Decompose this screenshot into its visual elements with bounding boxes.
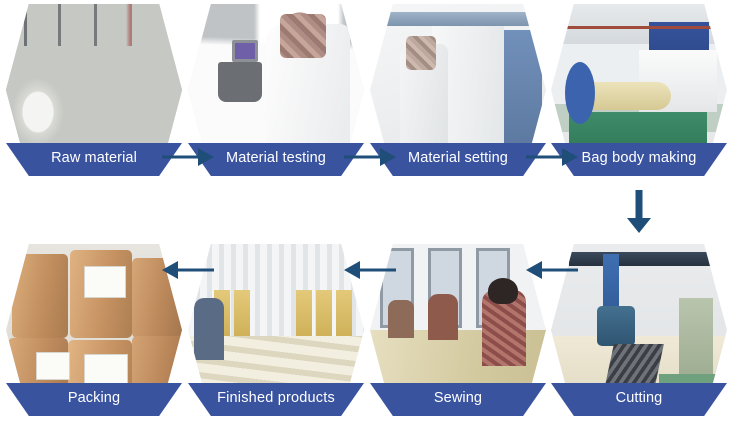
process-step-material-testing[interactable]: Material testing — [188, 4, 364, 176]
process-step-packing[interactable]: Packing — [6, 244, 182, 416]
photo-detail-blue-wheel — [565, 62, 595, 124]
photo-detail-bag-bundle — [234, 290, 250, 342]
photo-detail-worker-head — [488, 278, 518, 304]
hexagon-frame-material-setting — [370, 4, 546, 176]
photo-detail-worker — [388, 300, 414, 338]
photo-detail-red-pipe — [551, 26, 727, 29]
photo-detail-shipping-label — [36, 352, 70, 380]
process-step-finished-products[interactable]: Finished products — [188, 244, 364, 416]
arrow-right-icon-2 — [344, 145, 396, 169]
process-step-raw-material[interactable]: Raw material — [6, 4, 182, 176]
photo-detail-bag-bundle — [296, 290, 312, 342]
photo-finished-products — [188, 244, 364, 416]
photo-detail-drum — [12, 254, 68, 338]
process-step-material-setting[interactable]: Material setting — [370, 4, 546, 176]
photo-detail-gantry — [569, 252, 715, 266]
photo-detail-blurred-face — [280, 14, 326, 58]
arrow-left-icon-5 — [526, 258, 578, 282]
photo-sewing — [370, 244, 546, 416]
photo-detail-operator — [194, 298, 224, 360]
arrow-left-icon-6 — [344, 258, 396, 282]
photo-detail-ceiling-beam — [386, 12, 536, 26]
photo-detail-shipping-label — [84, 266, 126, 298]
photo-detail-drum — [132, 336, 182, 416]
hexagon-frame-sewing — [370, 244, 546, 416]
photo-detail-bag-bundle — [316, 290, 332, 342]
arrow-down-icon-4 — [624, 190, 654, 234]
photo-detail-shipping-label — [84, 354, 128, 386]
photo-detail-cable-chain — [604, 344, 664, 390]
arrow-left-icon-7 — [162, 258, 214, 282]
arrow-right-icon-3 — [526, 145, 578, 169]
photo-material-setting — [370, 4, 546, 176]
hexagon-frame-packing — [6, 244, 182, 416]
hexagon-frame-material-testing — [188, 4, 364, 176]
photo-material-testing — [188, 4, 364, 176]
photo-detail-green-floor — [569, 112, 707, 158]
hexagon-frame-raw-material — [6, 4, 182, 176]
photo-detail-worker — [428, 294, 458, 340]
hexagon-frame-finished-products — [188, 244, 364, 416]
photo-detail-blurred-face — [406, 36, 436, 70]
photo-detail-bag-bundle — [336, 290, 352, 342]
photo-detail-instrument — [218, 62, 262, 102]
photo-detail-monitor — [232, 40, 258, 62]
photo-detail-cabinet — [679, 298, 713, 376]
photo-packing — [6, 244, 182, 416]
process-step-sewing[interactable]: Sewing — [370, 244, 546, 416]
photo-raw-material — [6, 4, 182, 176]
photo-detail-green-strip — [659, 374, 723, 392]
production-process-flow-diagram: Raw material Material testing — [0, 0, 733, 423]
arrow-right-icon-1 — [162, 145, 214, 169]
photo-detail-motor — [597, 306, 635, 346]
